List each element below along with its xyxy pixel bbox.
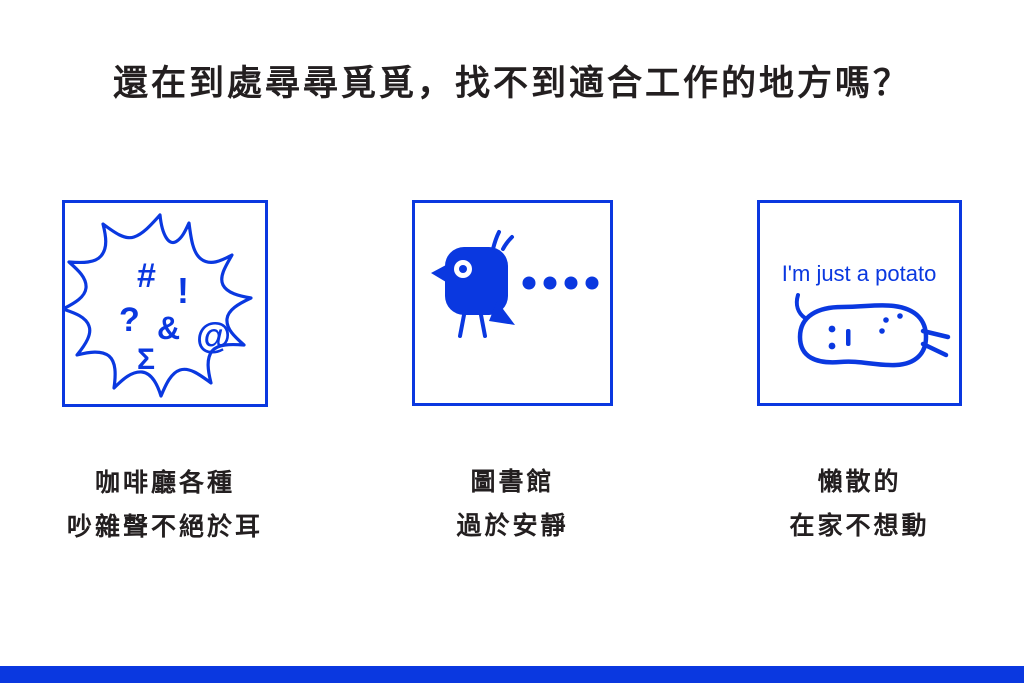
bottom-accent-bar	[0, 666, 1024, 683]
panel-library-frame	[412, 200, 613, 406]
panel-cafe: # ! ? & @ Σ 咖啡廳各種 吵雜聲不絕於耳	[62, 200, 268, 550]
panel-home-frame: I'm just a potato	[757, 200, 962, 406]
potato-spot-3	[879, 328, 885, 334]
bird-tuft-left	[493, 232, 499, 249]
symbol-at: @	[196, 315, 231, 356]
silent-bird-icon	[415, 203, 610, 403]
symbol-ampersand: &	[157, 310, 180, 346]
symbol-question: ?	[119, 301, 140, 339]
potato-body	[800, 305, 926, 365]
potato-spot-2	[897, 313, 903, 319]
caption-line-2: 在家不想動	[757, 505, 962, 549]
slide-canvas: 還在到處尋尋覓覓，找不到適合工作的地方嗎？ # ! ? & @ Σ	[0, 0, 1024, 683]
potato-eye-top	[829, 326, 836, 333]
caption-line-1: 圖書館	[412, 461, 613, 505]
silence-dot-4	[586, 277, 599, 290]
panel-home: I'm just a potato	[757, 200, 962, 549]
caption-line-1: 懶散的	[757, 461, 962, 505]
noise-burst-icon: # ! ? & @ Σ	[65, 203, 265, 404]
bird-leg-right	[481, 315, 485, 336]
potato-spot-1	[883, 317, 889, 323]
potato-mouth	[846, 329, 851, 346]
page-title: 還在到處尋尋覓覓，找不到適合工作的地方嗎？	[0, 63, 1024, 105]
panel-library: 圖書館 過於安靜	[412, 200, 613, 549]
symbol-sigma: Σ	[137, 343, 155, 376]
symbol-exclamation: !	[177, 270, 189, 311]
caption-line-2: 吵雜聲不絕於耳	[62, 506, 268, 550]
panel-cafe-frame: # ! ? & @ Σ	[62, 200, 268, 407]
potato-sprout-bottom	[923, 344, 946, 355]
panel-library-caption: 圖書館 過於安靜	[412, 461, 613, 549]
caption-line-1: 咖啡廳各種	[62, 462, 268, 506]
caption-line-2: 過於安靜	[412, 505, 613, 549]
potato-eye-bottom	[829, 343, 836, 350]
lazy-potato-icon: I'm just a potato	[760, 203, 959, 403]
silence-dot-3	[565, 277, 578, 290]
bird-eye-pupil	[459, 265, 467, 273]
symbol-hash: #	[137, 257, 156, 295]
panel-cafe-caption: 咖啡廳各種 吵雜聲不絕於耳	[62, 462, 268, 550]
potato-speech-text: I'm just a potato	[782, 261, 937, 286]
panel-home-caption: 懶散的 在家不想動	[757, 461, 962, 549]
silence-dot-1	[523, 277, 536, 290]
panel-row: # ! ? & @ Σ 咖啡廳各種 吵雜聲不絕於耳	[0, 200, 1024, 560]
bird-tuft-right	[503, 237, 512, 249]
bird-leg-left	[460, 315, 464, 336]
bird-beak	[431, 265, 446, 282]
speech-tail-icon	[797, 295, 805, 318]
silence-dot-2	[544, 277, 557, 290]
